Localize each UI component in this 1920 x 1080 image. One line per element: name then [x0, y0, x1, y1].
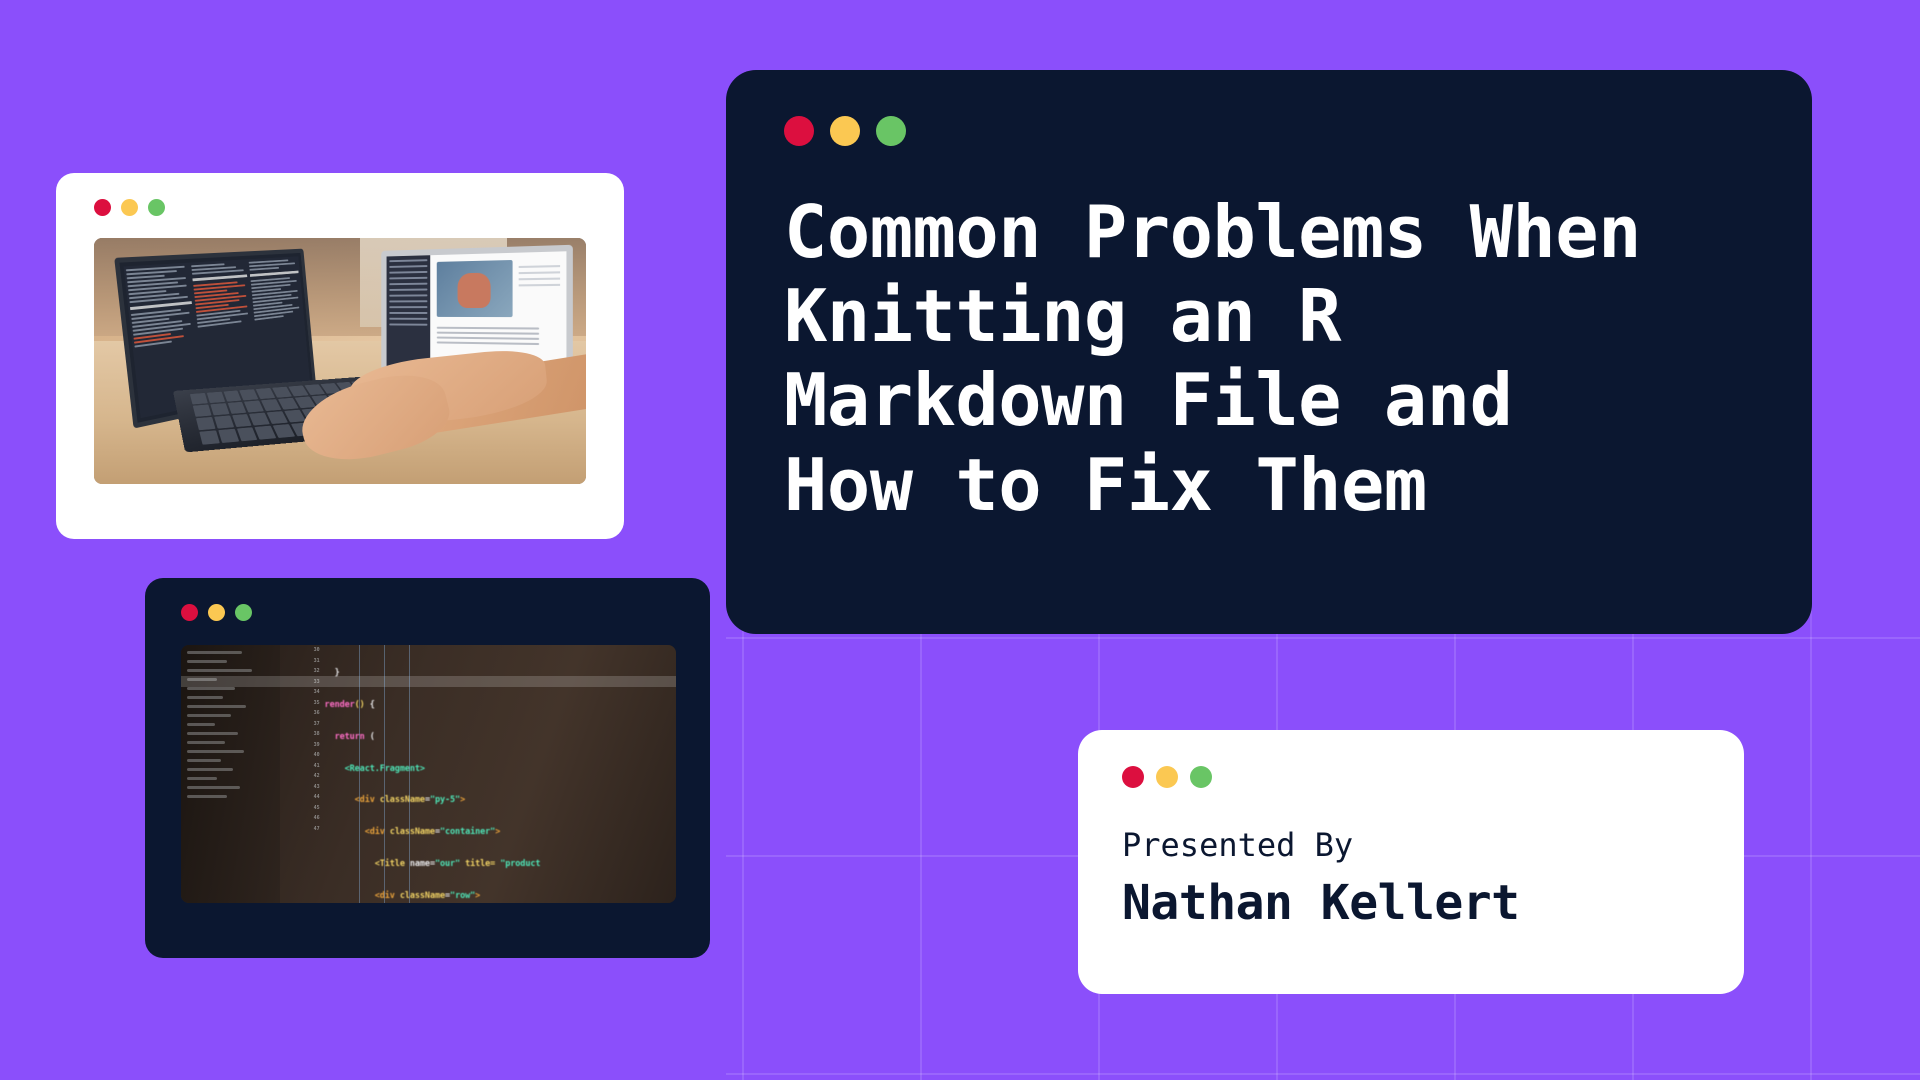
- active-line-highlight: [181, 676, 676, 687]
- minimize-dot-icon[interactable]: [121, 199, 138, 216]
- close-dot-icon[interactable]: [784, 116, 814, 146]
- presenter-window-card: Presented By Nathan Kellert: [1078, 730, 1744, 994]
- secondary-screen-sidebar: [387, 255, 431, 368]
- presented-by-label: Presented By: [1122, 828, 1700, 863]
- maximize-dot-icon[interactable]: [148, 199, 165, 216]
- close-dot-icon[interactable]: [1122, 766, 1144, 788]
- page-title: Common Problems When Knitting an R Markd…: [784, 190, 1754, 527]
- window-controls: [1122, 766, 1700, 788]
- code-window-card: 303132333435363738 394041424344454647 } …: [145, 578, 710, 958]
- secondary-screen-text: [438, 323, 540, 347]
- window-controls: [784, 116, 1754, 146]
- presenter-name: Nathan Kellert: [1122, 877, 1700, 930]
- slide-canvas: 303132333435363738 394041424344454647 } …: [0, 0, 1920, 1080]
- maximize-dot-icon[interactable]: [1190, 766, 1212, 788]
- maximize-dot-icon[interactable]: [876, 116, 906, 146]
- laptop-photo: [94, 238, 586, 484]
- secondary-screen-image: [438, 260, 513, 317]
- window-controls: [94, 199, 586, 216]
- title-window-card: Common Problems When Knitting an R Markd…: [726, 70, 1812, 634]
- window-controls: [181, 604, 674, 621]
- indent-guide: [409, 645, 410, 903]
- minimize-dot-icon[interactable]: [830, 116, 860, 146]
- indent-guide: [359, 645, 360, 903]
- indent-guide: [384, 645, 385, 903]
- code-editor-photo: 303132333435363738 394041424344454647 } …: [181, 645, 676, 903]
- minimize-dot-icon[interactable]: [1156, 766, 1178, 788]
- maximize-dot-icon[interactable]: [235, 604, 252, 621]
- photo-window-card: [56, 173, 624, 539]
- minimize-dot-icon[interactable]: [208, 604, 225, 621]
- secondary-screen-list: [519, 261, 561, 291]
- close-dot-icon[interactable]: [94, 199, 111, 216]
- close-dot-icon[interactable]: [181, 604, 198, 621]
